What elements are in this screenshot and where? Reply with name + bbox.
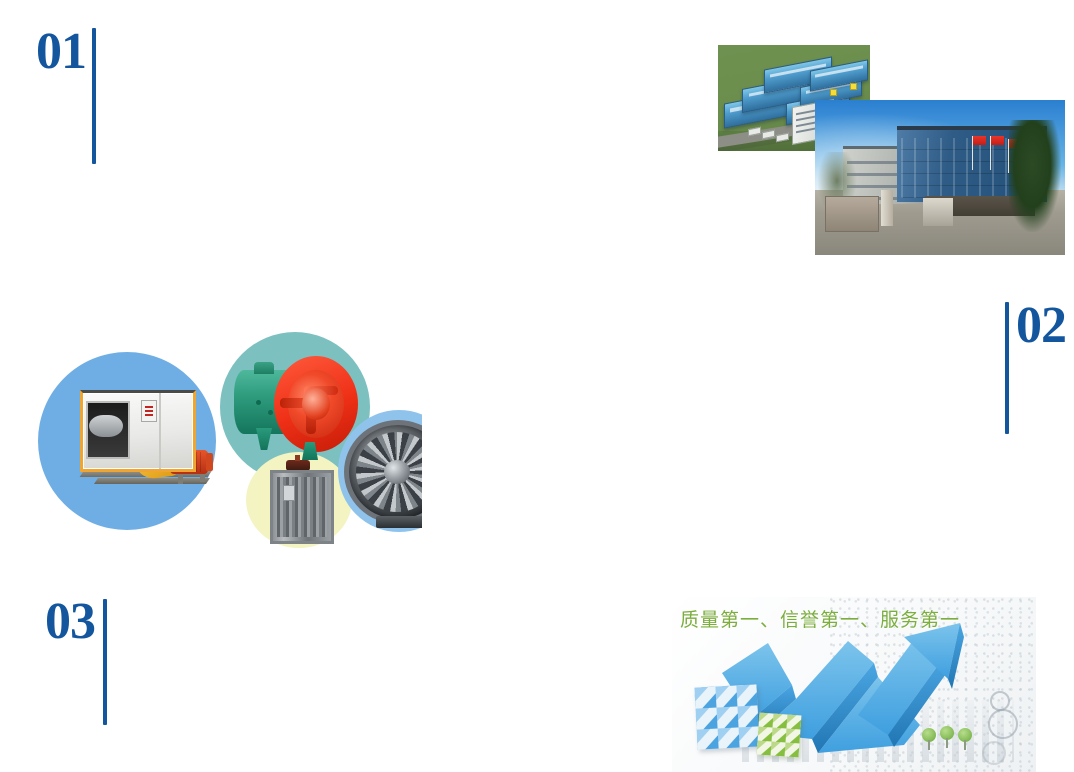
decorative-ring <box>988 709 1018 739</box>
blue-cube-stack <box>694 684 759 749</box>
growth-arrow-banner: 质量第一、信誉第一、服务第一 <box>672 597 1036 772</box>
gate-wall <box>825 196 879 232</box>
fan-foot <box>256 428 272 450</box>
company-slogan: 质量第一、信誉第一、服务第一 <box>680 605 960 632</box>
tree-icon <box>958 728 972 750</box>
red-flag-icon <box>991 136 1004 145</box>
damper-frame <box>270 470 334 544</box>
centrifugal-wheel <box>89 415 123 437</box>
green-cube-stack <box>757 713 802 758</box>
casing-bolt <box>268 410 273 415</box>
tree-icon <box>922 728 936 750</box>
panel-seam <box>159 393 161 469</box>
cabinet-fan-unit-image <box>66 384 214 504</box>
poster-canvas: 01 <box>0 0 1074 772</box>
section-marker-03: 03 <box>45 596 107 725</box>
section-rule-02 <box>1005 302 1009 434</box>
office-building-photo <box>815 100 1065 255</box>
damper-nameplate <box>283 485 295 501</box>
cabinet-housing <box>80 390 196 472</box>
section-number-02: 02 <box>1016 300 1066 352</box>
control-panel <box>141 400 157 422</box>
evergreen-tree <box>1009 120 1061 232</box>
section-rule-01 <box>92 28 96 164</box>
tree-trunk <box>928 740 930 750</box>
tree-trunk <box>964 740 966 750</box>
decorative-ring <box>990 691 1010 711</box>
casing-bolt <box>256 400 261 405</box>
flagpole <box>990 136 991 170</box>
casing-lug <box>254 362 274 374</box>
gate-pillar <box>881 190 893 226</box>
section-rule-03 <box>103 599 107 725</box>
tree-trunk <box>946 738 948 748</box>
factory-marker-dot <box>830 89 837 96</box>
support-rail <box>94 478 210 484</box>
product-showcase-circles <box>38 332 422 550</box>
section-number-01: 01 <box>36 26 86 78</box>
guard-kiosk <box>923 198 953 226</box>
factory-marker-dot <box>850 83 857 90</box>
fan-rim <box>344 420 422 524</box>
impeller-hub <box>302 388 330 420</box>
metal-axial-fan-image <box>342 420 422 524</box>
fan-base <box>376 516 422 528</box>
section-marker-02: 02 <box>1005 300 1066 434</box>
tree-icon <box>940 726 954 748</box>
flagpole <box>972 136 973 170</box>
section-number-03: 03 <box>45 596 95 648</box>
section-marker-01: 01 <box>36 26 96 164</box>
decorative-ring <box>982 741 1006 765</box>
fire-damper-image <box>264 460 334 542</box>
red-flag-icon <box>973 136 986 145</box>
